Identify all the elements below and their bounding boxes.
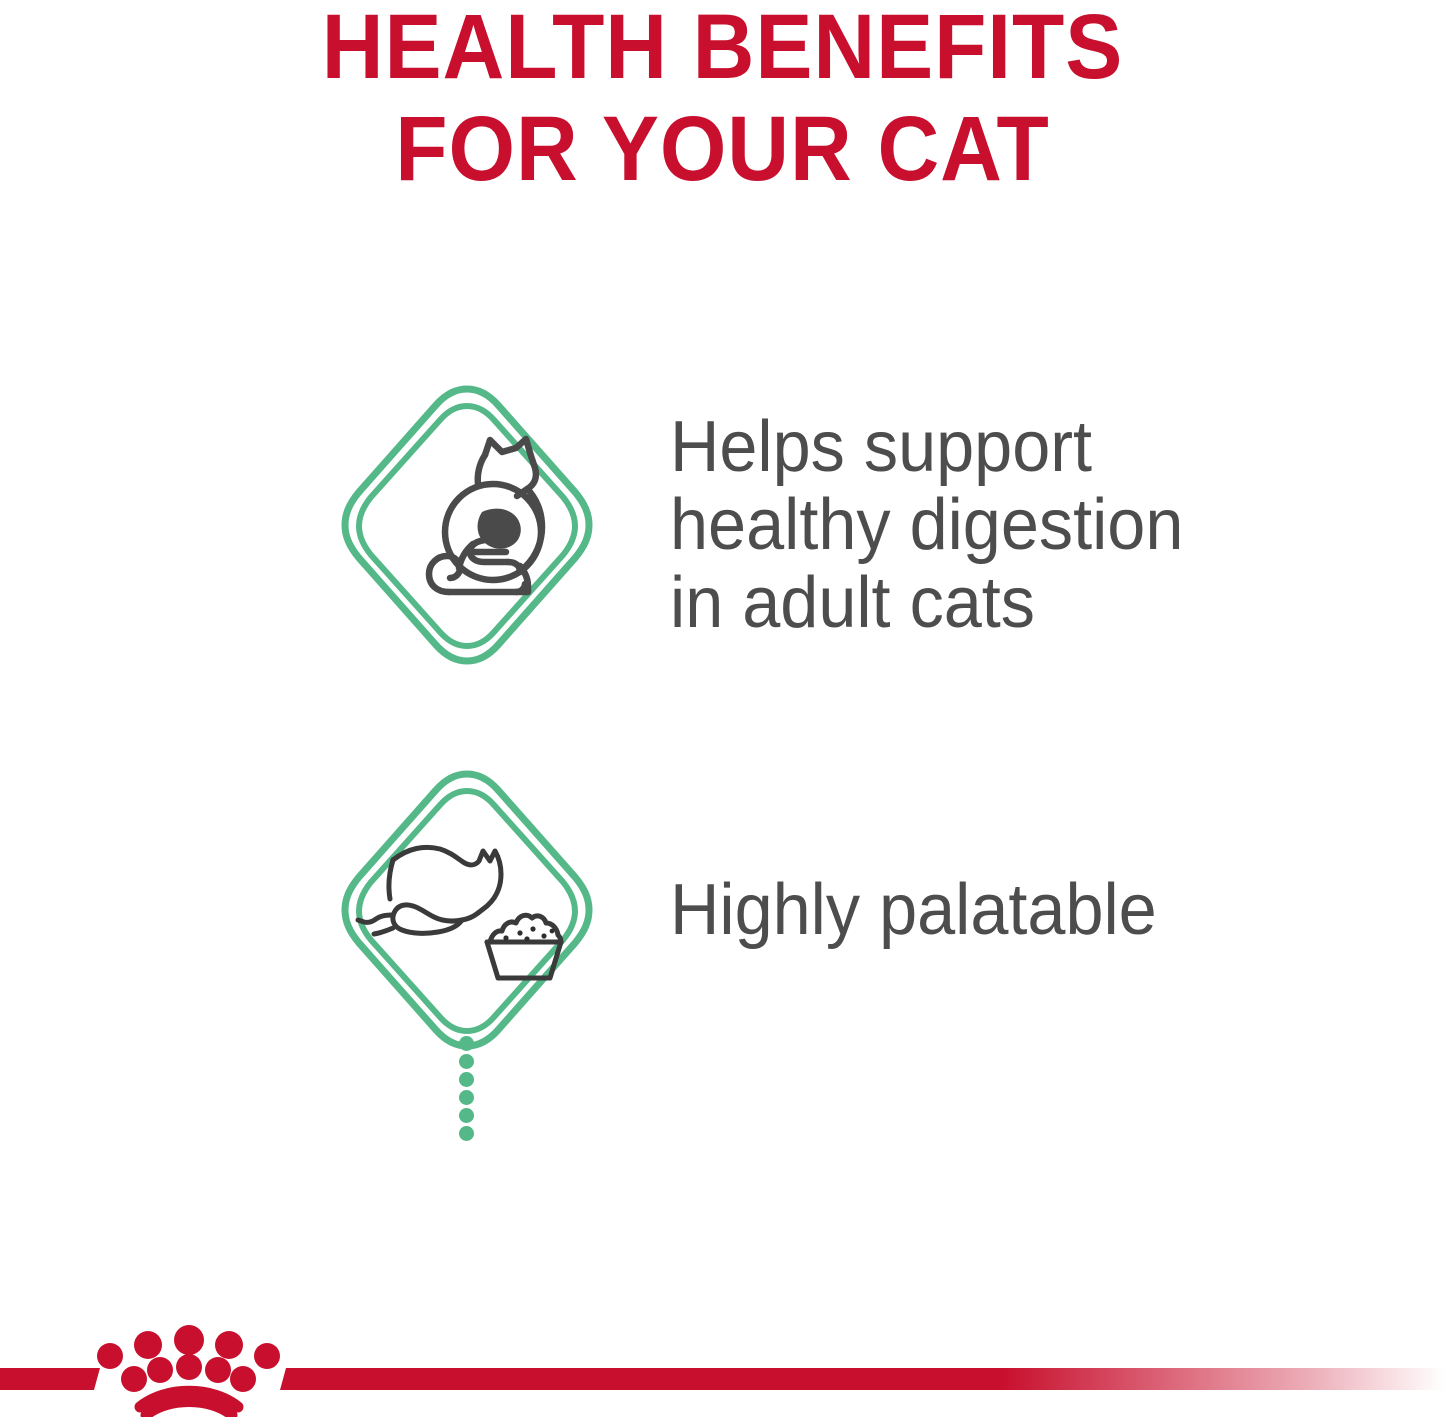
crown-dot: [134, 1331, 162, 1359]
benefit-text-line-2: healthy digestion: [670, 486, 1383, 564]
crown-dot: [205, 1357, 231, 1383]
connector-dot: [459, 1126, 474, 1141]
benefit-text-palatable: Highly palatable: [670, 871, 1383, 949]
benefit-item-digestion: Helps support healthy digestion in adult…: [330, 380, 1420, 670]
cat-eating-bowl-icon: [330, 765, 605, 1055]
crown-dot: [215, 1331, 243, 1359]
logo-rule-left: [0, 1368, 100, 1390]
logo-rule-right: [280, 1368, 1445, 1390]
health-benefits-panel: HEALTH BENEFITS FOR YOUR CAT: [0, 0, 1445, 1417]
crown-dot: [174, 1325, 204, 1355]
connector-dot: [459, 1054, 474, 1069]
benefits-list: Helps support healthy digestion in adult…: [0, 370, 1445, 1070]
connector-dot: [459, 1090, 474, 1105]
crown-arc: [146, 1402, 232, 1416]
benefit-text-line-1: Helps support: [670, 408, 1383, 486]
cat-digestion-icon: [330, 380, 605, 670]
crown-dot: [254, 1343, 280, 1369]
connector-dot: [459, 1072, 474, 1087]
connector-dot: [459, 1108, 474, 1123]
benefit-text-line-3: in adult cats: [670, 564, 1383, 642]
benefit-item-palatable: Highly palatable: [330, 765, 1420, 1055]
crown-dot: [97, 1343, 123, 1369]
benefit-text-line-1: Highly palatable: [670, 871, 1383, 949]
crown-dot: [176, 1354, 202, 1380]
benefit-text-digestion: Helps support healthy digestion in adult…: [670, 408, 1383, 642]
crown-dot: [147, 1357, 173, 1383]
crown-dot: [230, 1366, 256, 1392]
royal-canin-crown-logo: [0, 1320, 1445, 1417]
page-title: HEALTH BENEFITS FOR YOUR CAT: [51, 0, 1395, 197]
crown-dot: [121, 1366, 147, 1392]
page-title-line-1: HEALTH BENEFITS: [51, 0, 1395, 95]
page-title-line-2: FOR YOUR CAT: [51, 102, 1395, 197]
